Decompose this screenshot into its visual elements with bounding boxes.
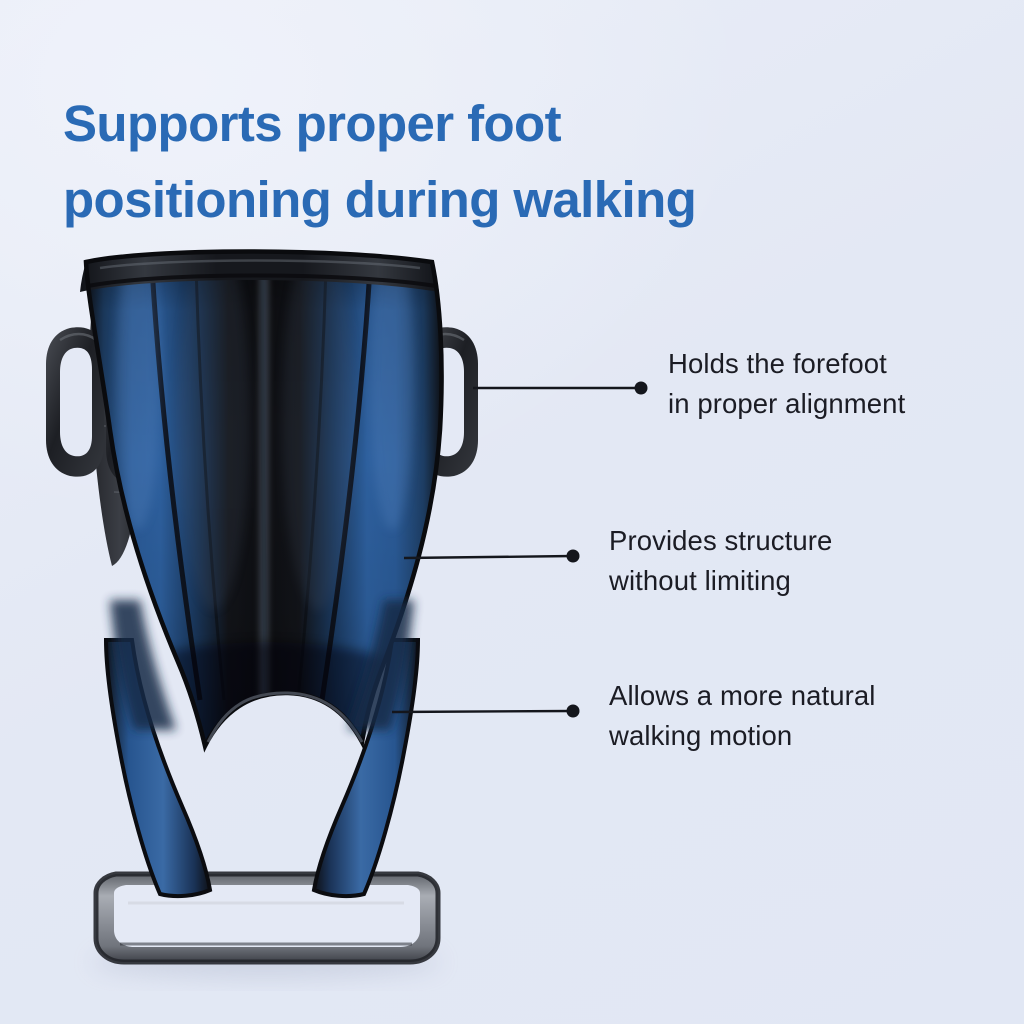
- callout-label-provides-structure: Provides structure without limiting: [609, 521, 1009, 602]
- callout-label-natural-walking: Allows a more natural walking motion: [609, 676, 1019, 757]
- callout-leader-lines: [0, 0, 1024, 1024]
- callout-label-holds-forefoot: Holds the forefoot in proper alignment: [668, 344, 1018, 425]
- leader-line-0: [473, 382, 648, 395]
- feature-callout-graphic: Supports proper foot positioning during …: [0, 0, 1024, 1024]
- leader-line-1: [404, 550, 580, 563]
- leader-line-2: [392, 705, 580, 718]
